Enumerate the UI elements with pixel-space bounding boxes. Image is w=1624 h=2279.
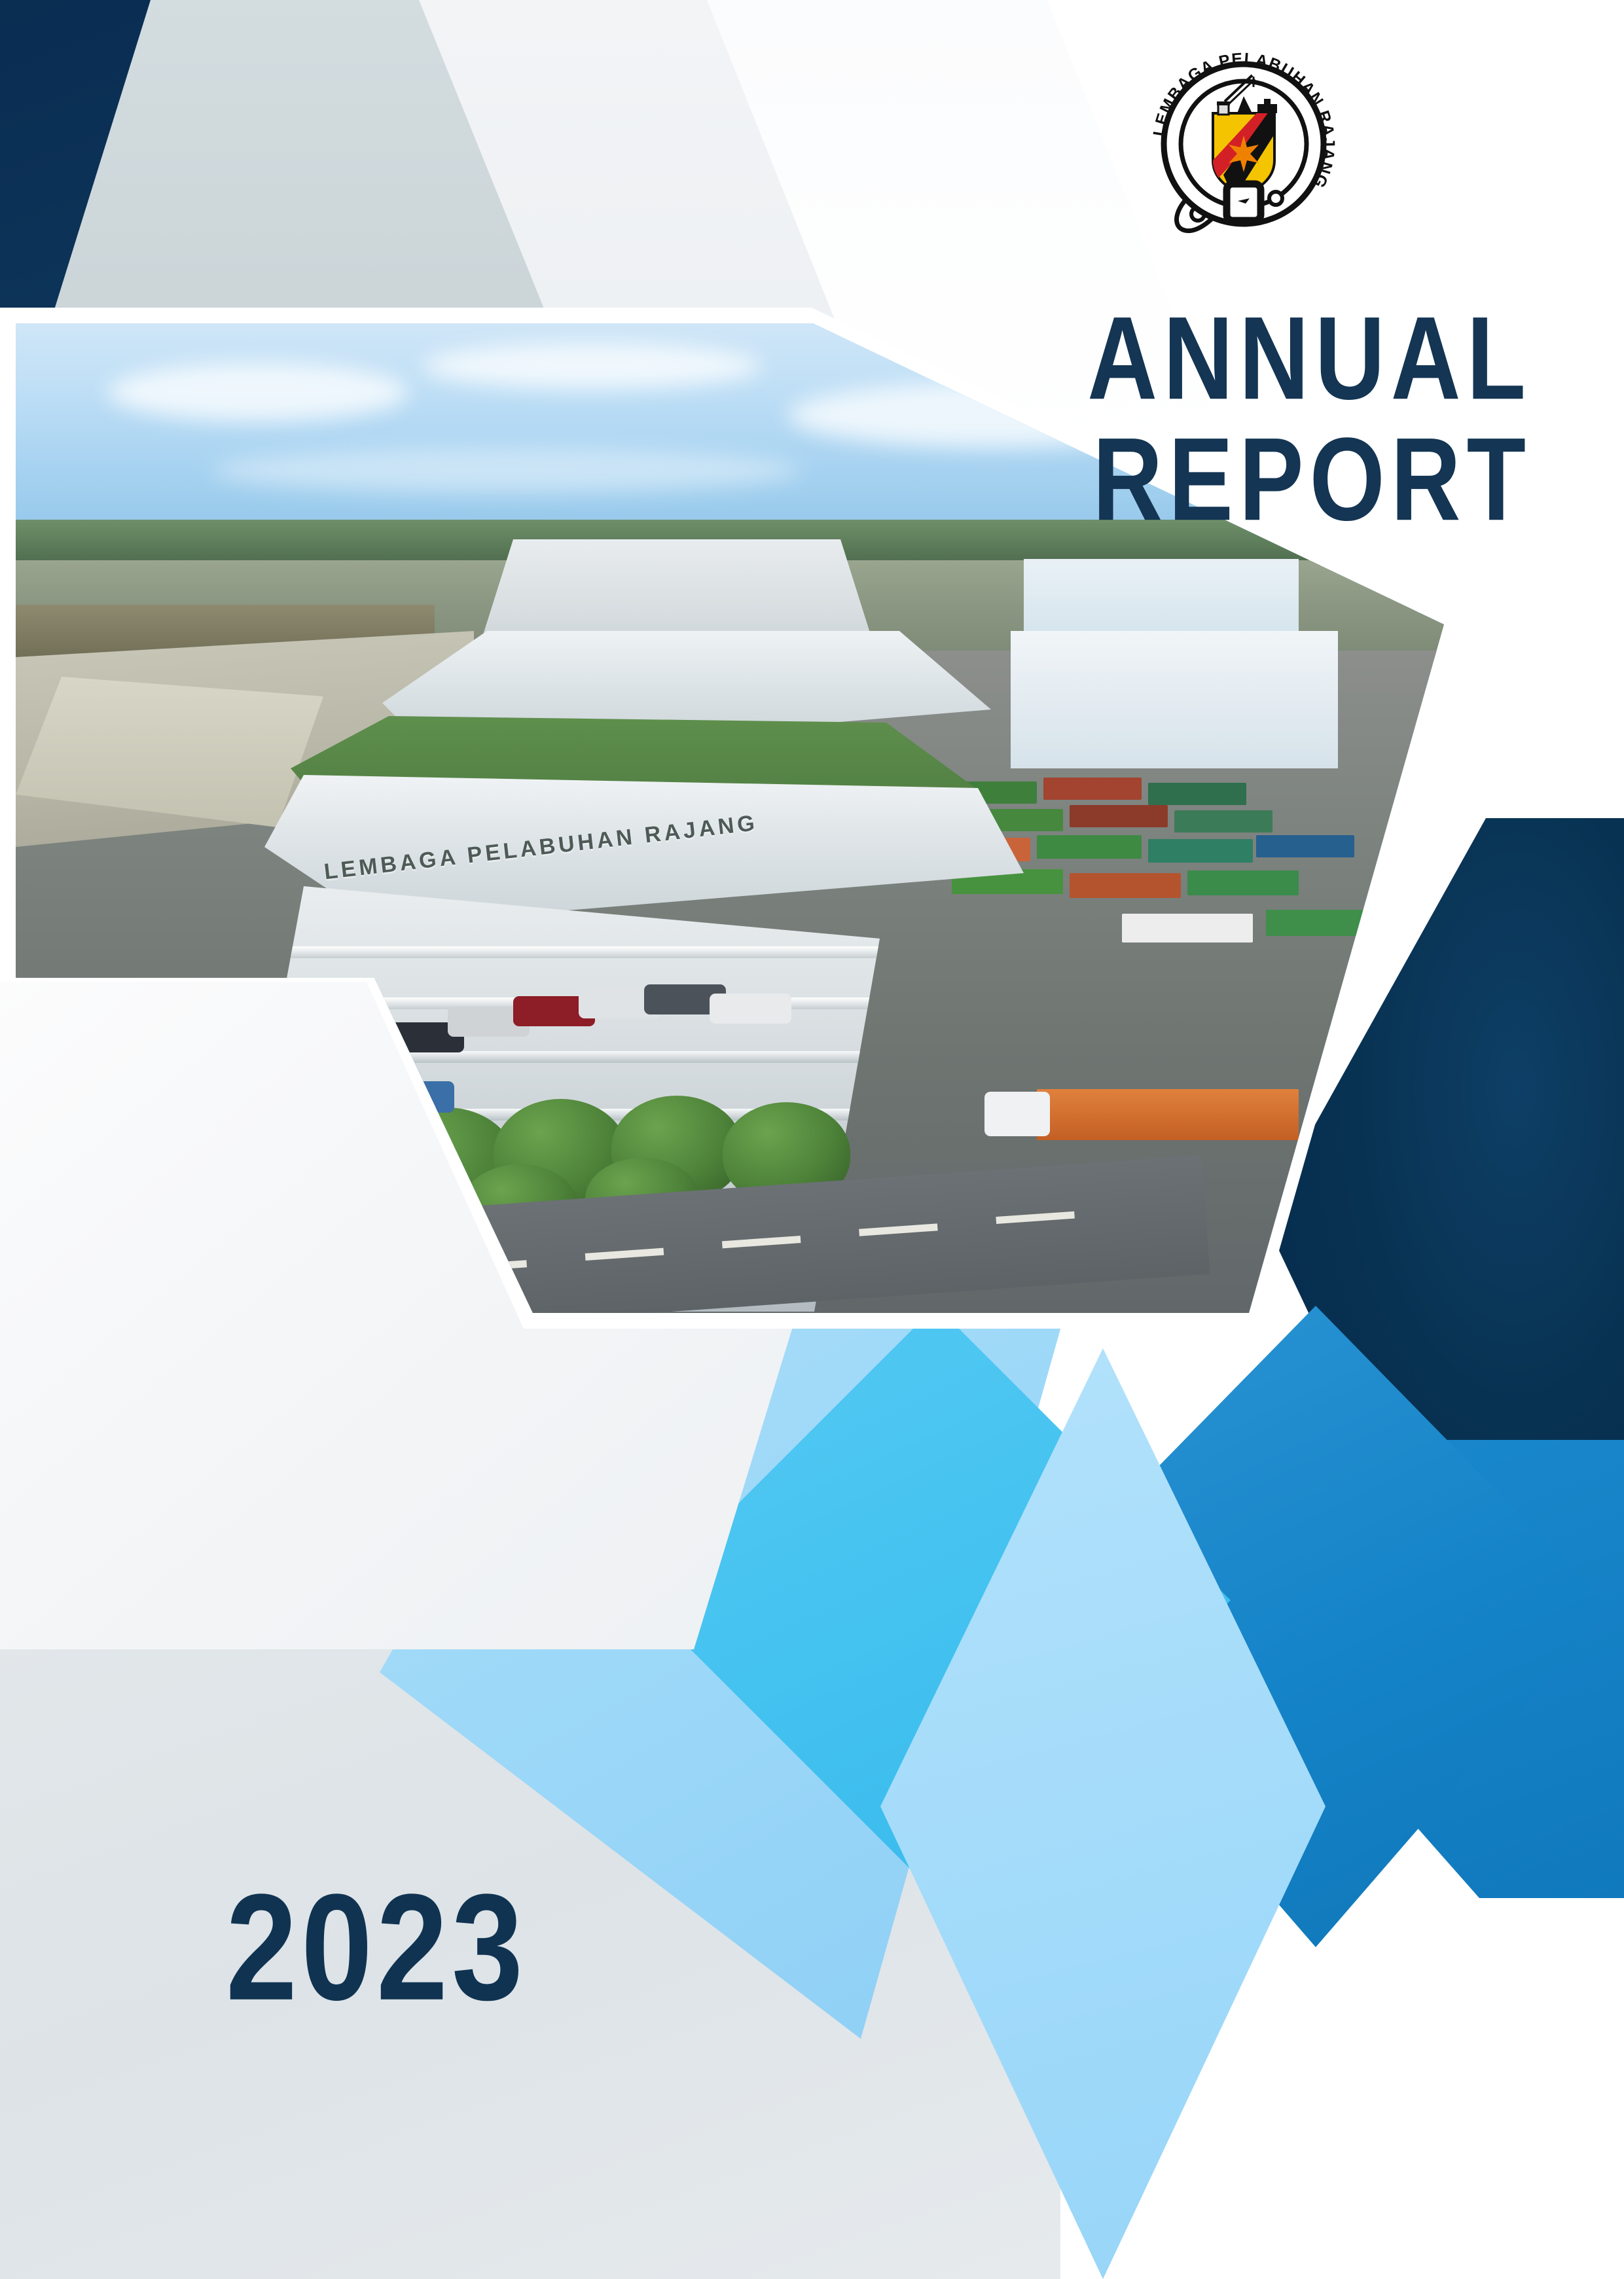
page-title-line-2: REPORT bbox=[982, 420, 1532, 541]
cloud bbox=[422, 343, 762, 389]
page-title-line-1: ANNUAL bbox=[982, 299, 1532, 420]
cloud bbox=[107, 363, 408, 422]
cloud bbox=[212, 448, 801, 493]
photo-office-block2 bbox=[1011, 631, 1338, 768]
lembaga-pelabuhan-rajang-logo-icon: LEMBAGA PELABUHAN RAJANG bbox=[1136, 36, 1352, 252]
photo-container-yard bbox=[926, 775, 1384, 991]
annual-report-cover: LEMBAGA PELABUHAN RAJANG bbox=[0, 0, 1624, 2279]
cover-year: 2023 bbox=[226, 1872, 527, 2023]
logo-badge-hole bbox=[1269, 192, 1282, 205]
organization-logo: LEMBAGA PELABUHAN RAJANG bbox=[1136, 36, 1352, 252]
cover-title: ANNUAL REPORT bbox=[982, 321, 1532, 541]
